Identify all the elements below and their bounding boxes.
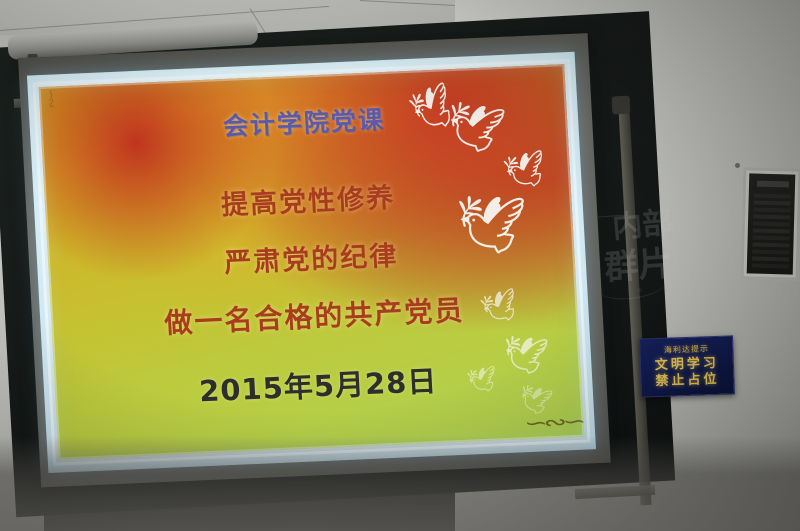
notice-row <box>754 201 791 206</box>
notice-row <box>753 208 790 213</box>
warning-sign: 海利达提示 文明学习 禁止占位 <box>639 335 735 397</box>
blackboard-corner-cap <box>612 96 631 115</box>
floor-shadow <box>0 436 800 531</box>
notice-board-heading <box>757 181 789 188</box>
notice-row <box>752 257 789 262</box>
slide-date: 2015年5月28日 <box>54 352 582 417</box>
notice-board <box>741 167 800 280</box>
notice-board-surface <box>747 173 796 274</box>
notice-row <box>752 243 789 248</box>
notice-row <box>752 250 789 255</box>
notice-row <box>753 222 790 227</box>
slide-line-1: 提高党性修养 <box>44 168 572 230</box>
slide-title: 会计学院党课 <box>40 92 567 151</box>
slide-line-3: 做一名合格的共产党员 <box>51 284 579 347</box>
classroom-scene: 内部 群片 🕊 🕊 🕊 🕊 🕊 🕊 🕊 🕊 会计学院党课 提高党性修养 严肃党的… <box>0 0 800 531</box>
blackboard-smudge <box>660 214 665 217</box>
notice-row <box>753 215 790 220</box>
slide-line-2: 严肃党的纪律 <box>47 226 575 288</box>
slide-text-block: 会计学院党课 提高党性修养 严肃党的纪律 做一名合格的共产党员 2015年5月2… <box>39 64 585 459</box>
notice-board-screw <box>735 163 740 168</box>
notice-row <box>753 229 790 234</box>
warning-sign-brand: 海利达提示 <box>664 343 709 356</box>
notice-row <box>752 264 789 269</box>
notice-row <box>754 194 791 199</box>
notice-board-text-rows <box>752 194 791 270</box>
presentation-slide: 🕊 🕊 🕊 🕊 🕊 🕊 🕊 🕊 会计学院党课 提高党性修养 严肃党的纪律 做一名… <box>39 64 585 459</box>
notice-row <box>753 236 790 241</box>
projection-screen: 🕊 🕊 🕊 🕊 🕊 🕊 🕊 🕊 会计学院党课 提高党性修养 严肃党的纪律 做一名… <box>18 33 611 487</box>
warning-sign-line-2: 禁止占位 <box>655 372 720 390</box>
blackboard-smudge <box>638 288 642 292</box>
